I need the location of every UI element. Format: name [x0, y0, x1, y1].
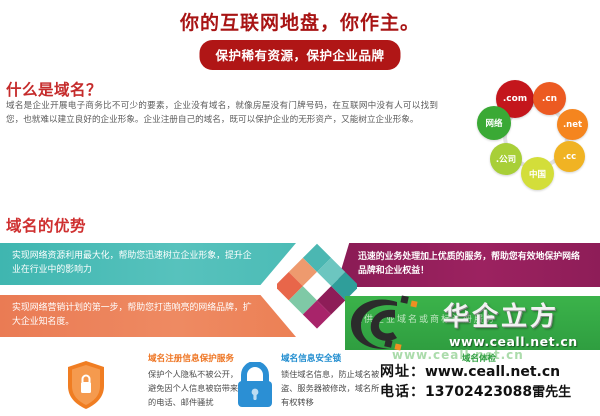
domain-bubble-net: .net	[557, 109, 588, 140]
contact-website-value: www.ceall.net.cn	[425, 364, 560, 380]
shield-icon	[66, 360, 106, 410]
feature-domain-lock: 域名信息安全锁 锁住域名信息，防止域名被盗、服务器被修改，域名所有权转移	[281, 352, 381, 409]
poster-canvas: 你的互联网地盘，你作主。 保护稀有资源，保护企业品牌 什么是域名？ 域名是企业开…	[0, 0, 600, 416]
section-title-what-is-domain: 什么是域名？	[6, 78, 102, 100]
page-title: 你的互联网地盘，你作主。	[0, 8, 600, 35]
section-title-advantages: 域名的优势	[6, 214, 86, 236]
contact-phone-label: 电话：	[380, 384, 425, 400]
section-body-what-is-domain: 域名是企业开展电子商务比不可少的要素，企业没有域名，就像房屋没有门牌号码，在互联…	[6, 99, 438, 127]
domain-bubble-wangluo: 网络	[477, 106, 511, 140]
brand-website: www.ceall.net.cn	[449, 334, 578, 349]
brand-name: 华企立方	[443, 296, 559, 333]
contact-person: 雷先生	[532, 385, 571, 400]
advantage-banner-orange: 实现网络营销计划的第一步，帮助您打造响亮的网络品牌，扩大企业知名度。	[0, 295, 296, 337]
feature-body: 锁住域名信息，防止域名被盗、服务器被修改，域名所有权转移	[281, 367, 381, 409]
feature-domain-privacy: 域名注册信息保护服务 保护个人隐私不被公开，避免因个人信息被窃带来的电话、邮件骚…	[148, 352, 240, 409]
padlock-icon	[236, 362, 274, 408]
advantage-banner-purple: 迅速的业务处理加上优质的服务，帮助您有效地保护网络品牌和企业权益！	[336, 243, 600, 287]
advantage-banner-teal: 实现网络资源利用最大化，帮助您迅速树立企业形象，提升企业在行业中的影响力	[0, 243, 296, 285]
domain-bubble-zhongguo: 中国	[521, 157, 554, 190]
contact-website-label: 网址：	[380, 364, 425, 380]
feature-title: 域名注册信息保护服务	[148, 352, 240, 364]
contact-block: 网址：www.ceall.net.cn 电话：13702423088雷先生	[380, 362, 600, 403]
domain-bubble-cn: .cn	[533, 82, 566, 115]
contact-phone-line: 电话：13702423088雷先生	[380, 382, 600, 403]
domain-extension-ring: .com .cn .net .cc 中国 .公司 网络	[477, 80, 595, 195]
contact-website-line: 网址：www.ceall.net.cn	[380, 362, 600, 382]
feature-body: 保护个人隐私不被公开，避免因个人信息被窃带来的电话、邮件骚扰	[148, 367, 240, 409]
contact-phone-value: 13702423088	[425, 384, 532, 400]
header-tagline-pill: 保护稀有资源，保护企业品牌	[199, 40, 400, 70]
domain-bubble-gongsi: .公司	[490, 143, 522, 175]
brand-watermark: www.ceall.net.cn	[392, 348, 524, 362]
domain-bubble-cc: .cc	[554, 141, 585, 172]
